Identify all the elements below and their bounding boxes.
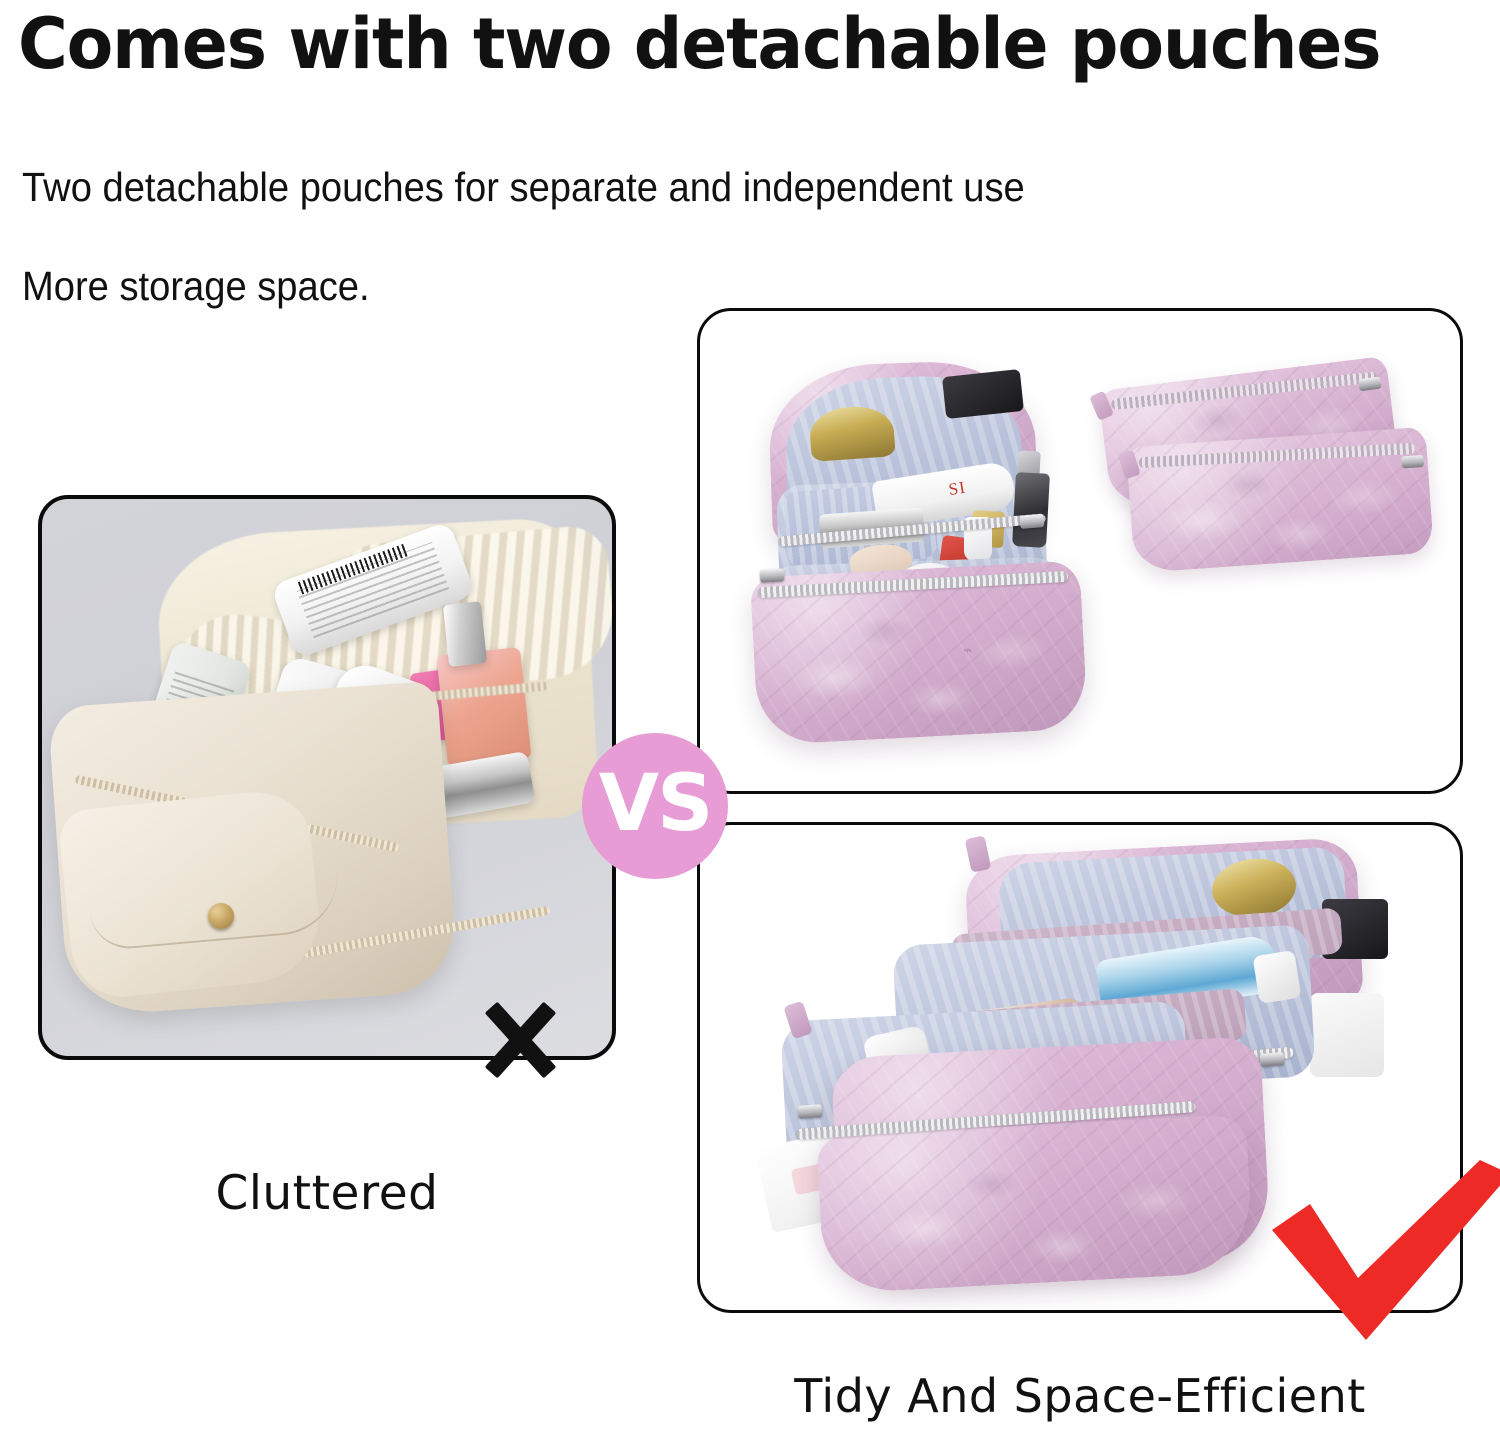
pink-bag-with-pouches-photo: SI ⌁ (700, 311, 1460, 791)
zipper-pull-main (760, 568, 785, 582)
floral-emboss-texture (816, 1114, 1254, 1294)
caption-cluttered: Cluttered (38, 1166, 616, 1222)
subheading-line-1: Two detachable pouches for separate and … (22, 163, 1025, 211)
blue-tube-cap (1253, 950, 1302, 1004)
brand-logo: ⌁ (961, 641, 971, 661)
vs-badge: VS (582, 733, 728, 879)
pouch-zipper-pull (1401, 455, 1424, 469)
zipper-pull-middle (1259, 1052, 1284, 1067)
black-clip-item (942, 369, 1024, 419)
pouch-zipper-pull (1358, 377, 1381, 392)
organized-photo-panel-top: SI ⌁ (697, 308, 1463, 794)
white-tube-right (1310, 993, 1384, 1077)
page-title: Comes with two detachable pouches (18, 2, 1444, 86)
x-mark-icon (470, 990, 570, 1090)
tube-label-text: SI (947, 477, 967, 499)
serum-dropper-bottle (1012, 472, 1050, 548)
cluttered-bag-photo (42, 499, 612, 1056)
pouch-zipper (1139, 442, 1415, 467)
zipper-pull-middle (1019, 514, 1044, 529)
bag-side-tab-top (965, 835, 992, 872)
caption-tidy: Tidy And Space-Efficient (697, 1368, 1463, 1424)
pink-bag-front-flap (816, 1114, 1254, 1294)
perfume-cap (443, 601, 487, 667)
cluttered-photo-panel (38, 495, 616, 1060)
detachable-pouch-front (1126, 427, 1434, 574)
subheading-line-2: More storage space. (22, 262, 370, 310)
check-mark-icon (1262, 1158, 1500, 1354)
vs-label: VS (599, 765, 712, 843)
zipper-pull-front (798, 1104, 823, 1119)
pouch-side-tab (1089, 391, 1114, 421)
snap-button (208, 903, 234, 929)
pouch-zipper (1111, 371, 1377, 410)
